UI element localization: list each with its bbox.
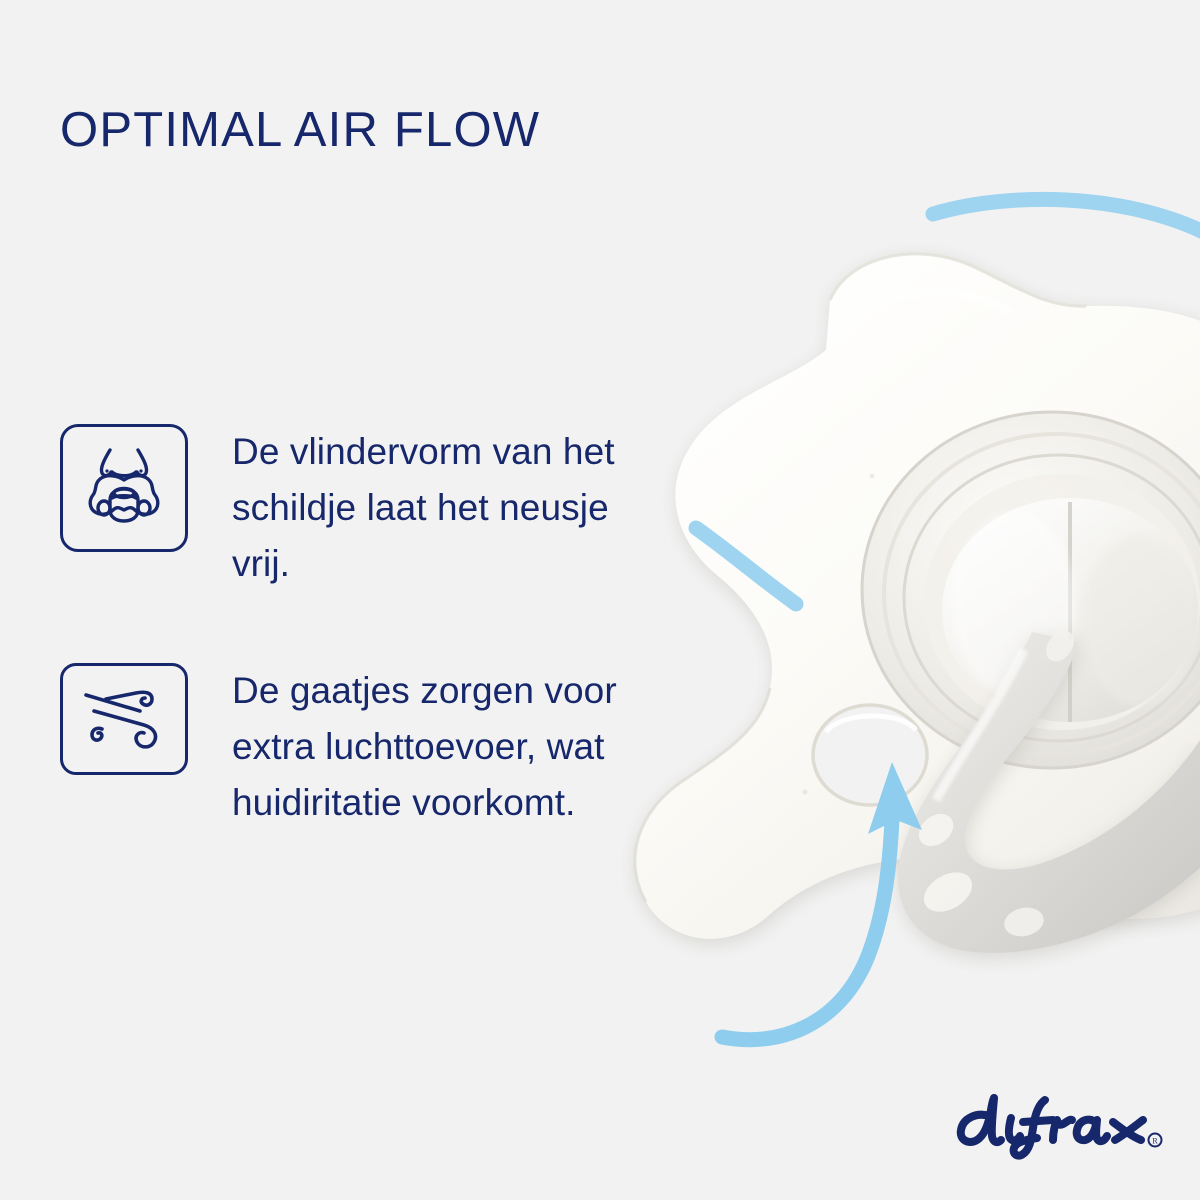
wind-airflow-icon-box — [60, 663, 188, 775]
feature-item-butterfly-shape: De vlindervorm van het schildje laat het… — [60, 424, 632, 593]
infographic-canvas: OPTIMAL AIR FLOW — [0, 0, 1200, 1200]
airflow-accent-curve-top — [933, 199, 1200, 254]
wind-airflow-icon — [78, 677, 170, 762]
product-image — [600, 180, 1200, 1060]
registered-trademark-icon: R — [1149, 1134, 1162, 1147]
feature-text-air-holes: De gaatjes zorgen voor extra luchttoevoe… — [232, 663, 632, 832]
page-title: OPTIMAL AIR FLOW — [60, 102, 540, 158]
feature-text-butterfly-shape: De vlindervorm van het schildje laat het… — [232, 424, 632, 593]
brand-logo: R — [949, 1090, 1164, 1162]
nose-butterfly-pacifier-icon-box — [60, 424, 188, 552]
feature-item-air-holes: De gaatjes zorgen voor extra luchttoevoe… — [60, 663, 632, 832]
pacifier-teat — [942, 498, 1198, 722]
svg-text:R: R — [1152, 1137, 1158, 1146]
nose-butterfly-pacifier-icon — [76, 438, 172, 539]
ventilation-hole — [813, 705, 927, 805]
